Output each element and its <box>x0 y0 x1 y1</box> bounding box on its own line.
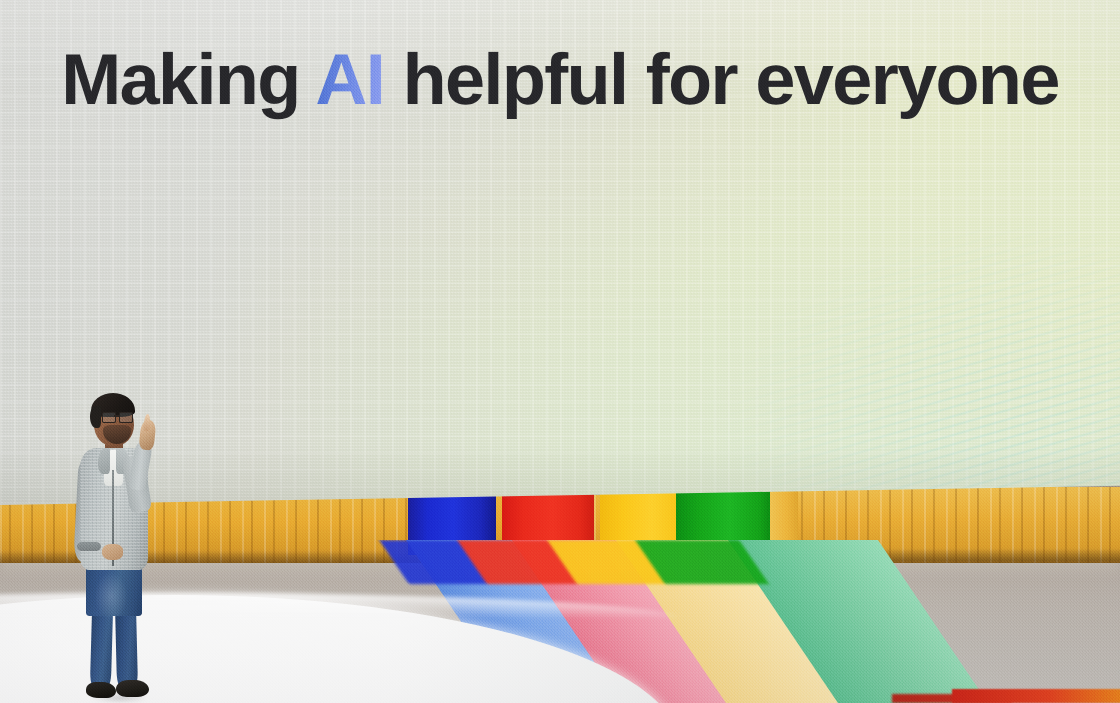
speaker-left-hand <box>102 544 123 560</box>
headline-part-before: Making <box>61 40 315 120</box>
runway-bottom-yellow-edge <box>952 689 1120 703</box>
speaker-collar-left <box>98 448 110 474</box>
keynote-stage-photo: Making AI helpful for everyone <box>0 0 1120 703</box>
speaker-right-shoe <box>116 680 149 697</box>
headline-part-after: helpful for everyone <box>384 40 1059 120</box>
keynote-speaker <box>72 392 190 703</box>
speaker-hair-side <box>90 406 101 428</box>
speaker-left-cuff <box>77 542 101 551</box>
headline-accent-ai: AI <box>315 40 384 120</box>
speaker-jeans-fade <box>94 572 132 632</box>
runway-saturated-band <box>379 540 769 584</box>
speaker-left-shoe <box>86 682 116 698</box>
eyeglasses-bridge <box>114 415 119 417</box>
page-title: Making AI helpful for everyone <box>0 44 1120 116</box>
